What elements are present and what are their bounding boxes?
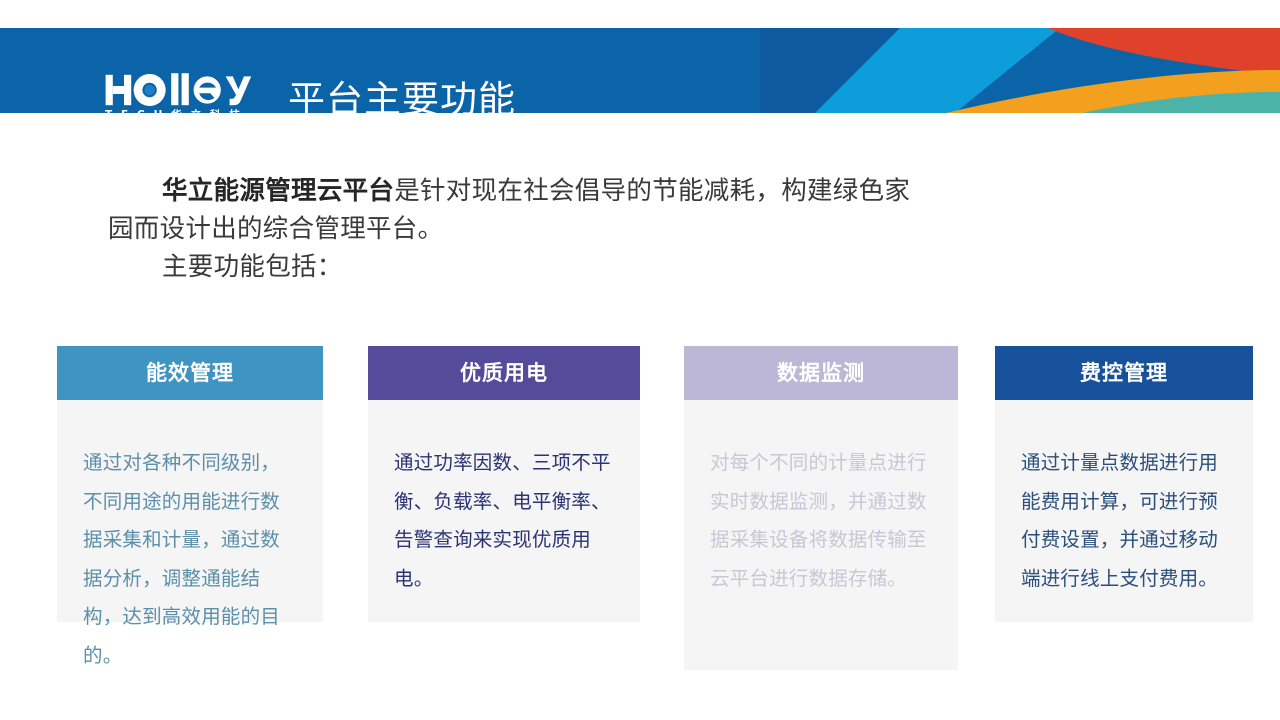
feature-card-data-monitoring[interactable]: 数据监测 对每个不同的计量点进行实时数据监测，并通过数据采集设备将数据传输至云平…: [684, 346, 958, 670]
feature-card-title: 费控管理: [995, 346, 1253, 400]
feature-card-body: 通过对各种不同级别，不同用途的用能进行数据采集和计量，通过数据分析，调整通能结构…: [57, 400, 323, 622]
slide-root: T E C H 华 立 科 技 平台主要功能 华立能源管理云平台是针对现在社会倡…: [0, 0, 1280, 720]
page-title: 平台主要功能: [288, 78, 516, 113]
intro-line-1: 华立能源管理云平台是针对现在社会倡导的节能减耗，构建绿色家: [108, 172, 1108, 210]
feature-card-quality-power[interactable]: 优质用电 通过功率因数、三项不平衡、负载率、电平衡率、告警查询来实现优质用电。: [368, 346, 640, 622]
feature-card-fee-control[interactable]: 费控管理 通过计量点数据进行用能费用计算，可进行预付费设置，并通过移动端进行线上…: [995, 346, 1253, 622]
header-decorative-swoosh: [760, 28, 1280, 113]
platform-name: 华立能源管理云平台: [162, 176, 394, 206]
intro-line-3: 主要功能包括：: [108, 248, 1108, 286]
feature-card-title: 能效管理: [57, 346, 323, 400]
feature-card-title: 优质用电: [368, 346, 640, 400]
feature-card-body: 通过计量点数据进行用能费用计算，可进行预付费设置，并通过移动端进行线上支付费用。: [995, 400, 1253, 622]
intro-line-2: 园而设计出的综合管理平台。: [108, 210, 1108, 248]
intro-line-1-rest: 是针对现在社会倡导的节能减耗，构建绿色家: [394, 176, 910, 206]
feature-card-body: 通过功率因数、三项不平衡、负载率、电平衡率、告警查询来实现优质用电。: [368, 400, 640, 622]
logo: T E C H 华 立 科 技: [104, 70, 264, 113]
header-banner: T E C H 华 立 科 技 平台主要功能: [0, 28, 1280, 113]
intro-paragraph: 华立能源管理云平台是针对现在社会倡导的节能减耗，构建绿色家 园而设计出的综合管理…: [108, 172, 1108, 286]
logo-tagline: T E C H 华 立 科 技: [105, 109, 263, 113]
feature-card-energy-efficiency[interactable]: 能效管理 通过对各种不同级别，不同用途的用能进行数据采集和计量，通过数据分析，调…: [57, 346, 323, 622]
feature-card-body: 对每个不同的计量点进行实时数据监测，并通过数据采集设备将数据传输至云平台进行数据…: [684, 400, 958, 670]
feature-card-title: 数据监测: [684, 346, 958, 400]
holley-wordmark-icon: [104, 70, 264, 110]
